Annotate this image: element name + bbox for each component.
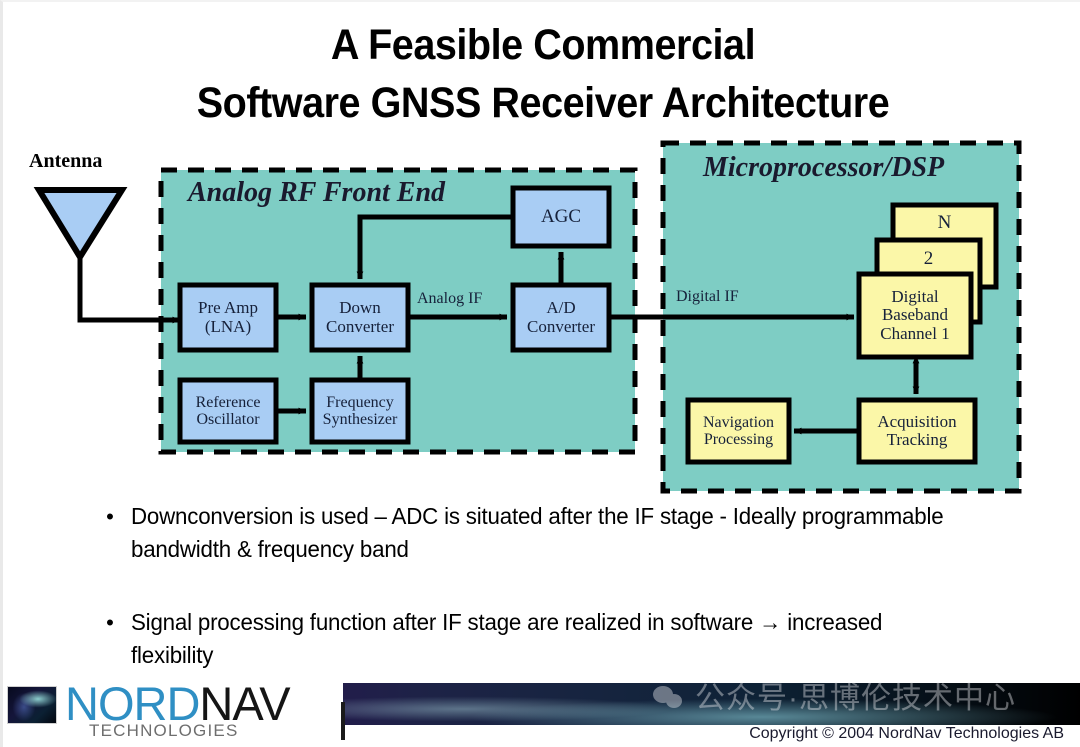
aurora-thumbnail-icon	[7, 686, 57, 724]
block-pre-amp	[180, 285, 276, 350]
antenna-icon	[39, 190, 122, 257]
bullet-text: Downconversion is used – ADC is situated…	[131, 500, 967, 566]
list-item: • Downconversion is used – ADC is situat…	[89, 500, 1080, 566]
architecture-diagram: Antenna Analog RF Front End Microprocess…	[3, 2, 1080, 512]
block-frequency-synthesizer	[312, 380, 408, 442]
logo-divider-bar	[341, 702, 345, 740]
block-acquisition-tracking	[859, 400, 975, 462]
block-ad-converter	[513, 285, 609, 350]
nordnav-logo: NORDNAV	[65, 680, 290, 727]
diagram-vector-layer	[3, 2, 1080, 512]
logo-tagline: TECHNOLOGIES	[89, 721, 238, 741]
zone-label-analog-rf-front-end: Analog RF Front End	[188, 177, 445, 209]
block-down-converter	[312, 285, 408, 350]
zone-label-microprocessor-dsp: Microprocessor/DSP	[703, 152, 944, 184]
block-channel-1	[859, 274, 971, 357]
list-item: • Signal processing function after IF st…	[89, 606, 1080, 672]
slide-canvas: A Feasible Commercial Software GNSS Rece…	[0, 0, 1080, 747]
bullet-marker: •	[89, 500, 131, 566]
bullet-text: Signal processing function after IF stag…	[131, 606, 967, 672]
block-agc	[513, 188, 609, 246]
block-navigation-processing	[688, 400, 789, 462]
copyright-notice: Copyright © 2004 NordNav Technologies AB	[749, 725, 1064, 743]
antenna-label: Antenna	[29, 150, 102, 173]
bullet-marker: •	[89, 606, 131, 672]
edge-label-analog-if: Analog IF	[417, 290, 482, 308]
bullet-list: • Downconversion is used – ADC is situat…	[3, 500, 1080, 672]
block-reference-oscillator	[180, 380, 276, 442]
edge-label-digital-if: Digital IF	[676, 288, 739, 306]
